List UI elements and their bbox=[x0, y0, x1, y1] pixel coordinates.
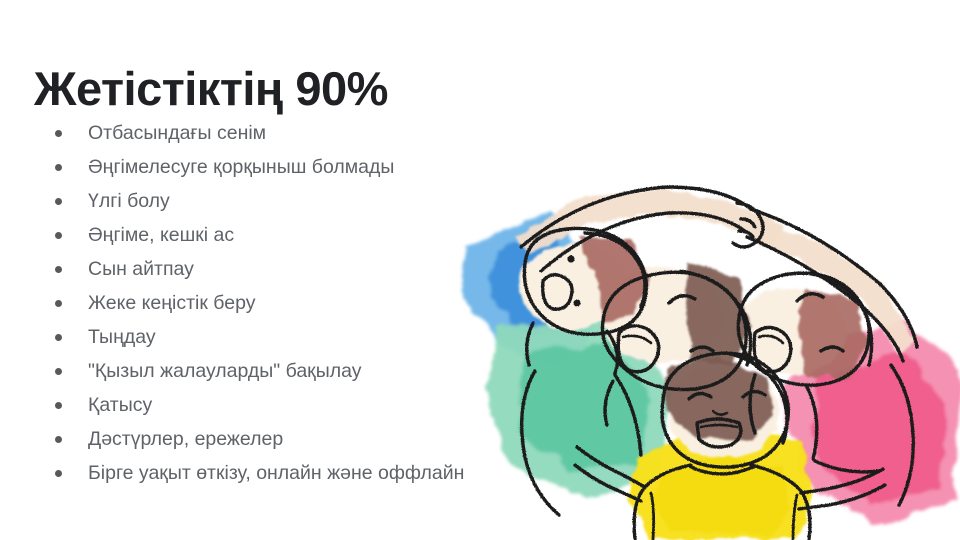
bullet-dot-icon bbox=[55, 232, 62, 239]
bullet-dot-icon bbox=[55, 164, 62, 171]
bullet-dot-icon bbox=[55, 334, 62, 341]
bullet-dot-icon bbox=[55, 402, 62, 409]
list-item-label: Сын айтпау bbox=[88, 252, 194, 286]
bullet-dot-icon bbox=[55, 368, 62, 375]
list-item-label: Отбасындағы сенім bbox=[88, 116, 266, 150]
bullet-dot-icon bbox=[55, 198, 62, 205]
slide-canvas: Жетістіктің 90% Отбасындағы сенім Әңгіме… bbox=[0, 0, 960, 540]
list-item-label: Жеке кеңістік беру bbox=[88, 286, 255, 320]
list-item-label: Қатысу bbox=[88, 388, 152, 422]
bullet-dot-icon bbox=[55, 470, 62, 477]
list-item-label: Дәстүрлер, ережелер bbox=[88, 422, 283, 456]
list-item-label: "Қызыл жалауларды" бақылау bbox=[88, 354, 362, 388]
list-item: Отбасындағы сенім bbox=[50, 116, 610, 150]
bullet-dot-icon bbox=[55, 300, 62, 307]
bullet-dot-icon bbox=[55, 130, 62, 137]
family-illustration bbox=[455, 175, 960, 540]
list-item-label: Бірге уақыт өткізу, онлайн және оффлайн bbox=[88, 456, 464, 490]
bullet-dot-icon bbox=[55, 266, 62, 273]
bullet-dot-icon bbox=[55, 436, 62, 443]
page-title: Жетістіктің 90% bbox=[34, 64, 388, 115]
list-item-label: Әңгіме, кешкі ас bbox=[88, 218, 234, 252]
list-item-label: Үлгі болу bbox=[88, 184, 170, 218]
list-item-label: Тыңдау bbox=[88, 320, 156, 354]
list-item-label: Әңгімелесуге қорқыныш болмады bbox=[88, 150, 394, 184]
